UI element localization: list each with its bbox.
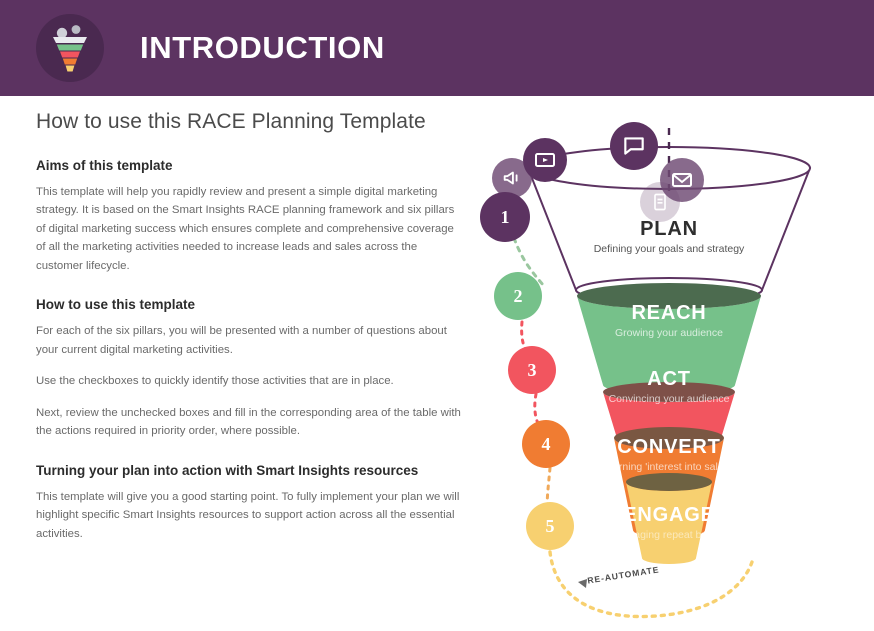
section-paragraph: This template will help you rapidly revi… [36,183,466,275]
stage-number-label: 3 [528,360,537,381]
page-title: How to use this RACE Planning Template [36,110,466,134]
funnel-logo-icon [36,14,104,82]
section-paragraph: For each of the six pillars, you will be… [36,322,466,359]
race-funnel-diagram: 1 2 3 4 5 PLAN Defining your goals and s… [470,120,870,620]
section-heading-how-to-use: How to use this template [36,297,466,312]
video-player-icon [523,138,567,182]
stage-number-3: 3 [508,346,556,394]
section-heading-turning-plan: Turning your plan into action with Smart… [36,463,466,478]
stage-number-label: 1 [501,207,510,228]
stage-number-label: 5 [546,516,555,537]
intro-content: How to use this RACE Planning Template A… [36,110,466,543]
page-title-header: INTRODUCTION [140,30,385,66]
stage-number-label: 4 [542,434,551,455]
section-how-to-use: How to use this template For each of the… [36,297,466,440]
section-paragraph: Use the checkboxes to quickly identify t… [36,372,466,390]
section-aims: Aims of this template This template will… [36,158,466,275]
stage-number-label: 2 [514,286,523,307]
stage-number-1: 1 [480,192,530,242]
funnel-logo-graphic [36,14,104,82]
stage-number-2: 2 [494,272,542,320]
page-header: INTRODUCTION [0,0,874,96]
speech-bubble-icon [610,122,658,170]
stage-number-4: 4 [522,420,570,468]
stage-number-5: 5 [526,502,574,550]
section-heading-aims: Aims of this template [36,158,466,173]
introduction-page: INTRODUCTION How to use this RACE Planni… [0,0,874,631]
section-paragraph: Next, review the unchecked boxes and fil… [36,404,466,441]
section-turning-plan-into-action: Turning your plan into action with Smart… [36,463,466,543]
section-paragraph: This template will give you a good start… [36,488,466,543]
report-icon [640,182,680,222]
